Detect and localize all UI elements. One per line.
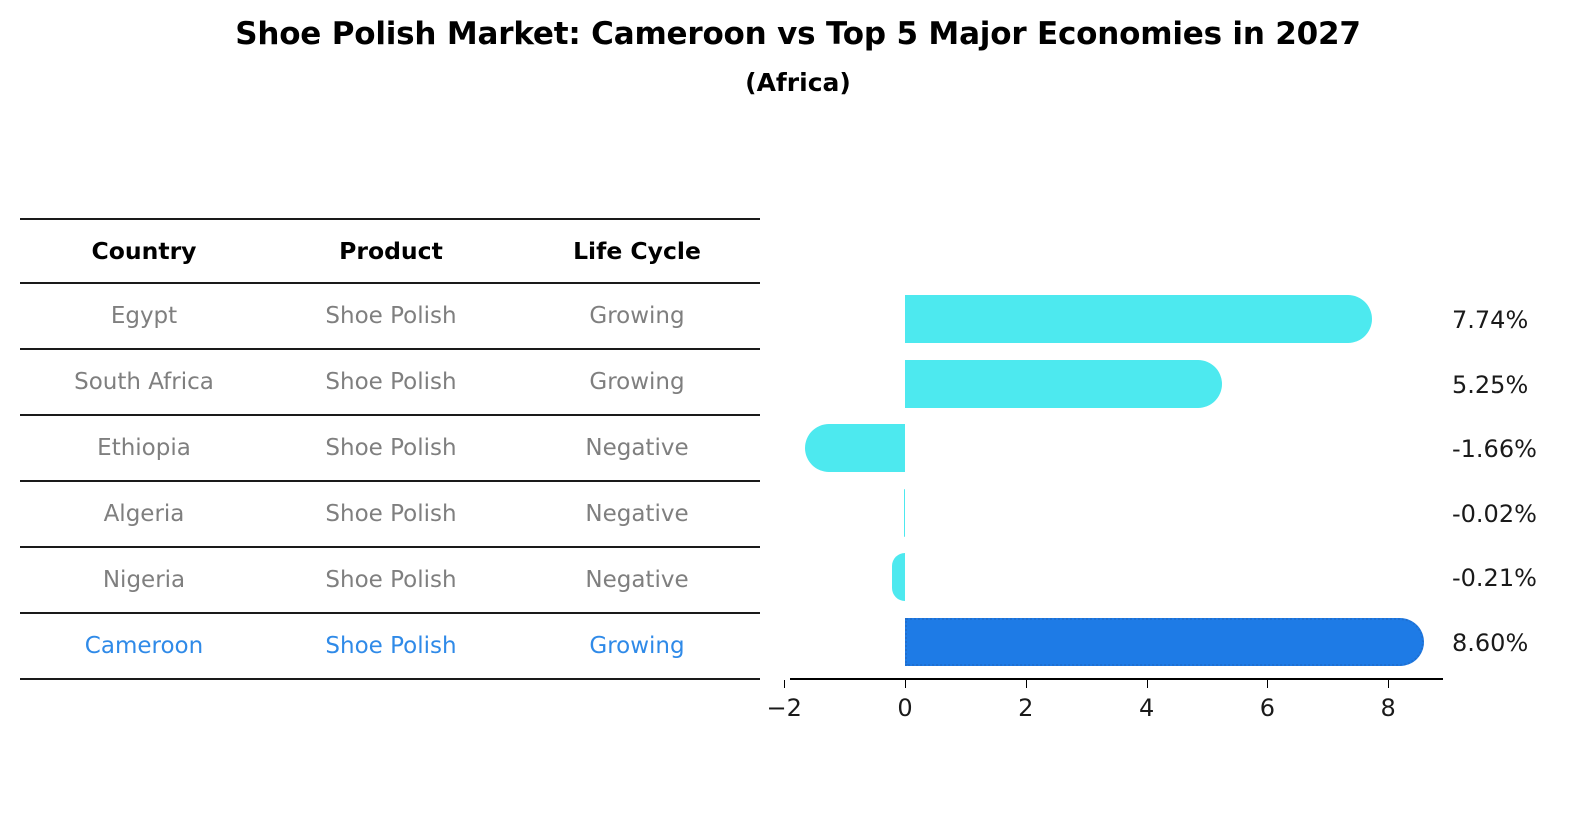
bar-value-label: 8.60% — [1452, 629, 1528, 657]
title-block: Shoe Polish Market: Cameroon vs Top 5 Ma… — [0, 12, 1596, 102]
column-header-product: Product — [268, 237, 514, 265]
cell-product: Shoe Polish — [268, 303, 514, 329]
x-axis-tick-mark — [1026, 680, 1027, 688]
cell-lifecycle: Growing — [514, 369, 760, 395]
cell-country: Cameroon — [20, 633, 268, 659]
bar[interactable] — [892, 553, 905, 601]
cell-product: Shoe Polish — [268, 435, 514, 461]
bar[interactable] — [805, 424, 905, 472]
x-axis-tick-label: 6 — [1237, 694, 1297, 722]
x-axis-tick-mark — [1267, 680, 1268, 688]
cell-product: Shoe Polish — [268, 567, 514, 593]
x-axis-tick-label: 2 — [996, 694, 1056, 722]
cell-lifecycle: Growing — [514, 303, 760, 329]
table-row[interactable]: Algeria Shoe Polish Negative — [20, 482, 760, 546]
bar-highlighted[interactable] — [905, 618, 1424, 666]
cell-product: Shoe Polish — [268, 369, 514, 395]
cell-country: Algeria — [20, 501, 268, 527]
x-axis-tick-mark — [1388, 680, 1389, 688]
cell-lifecycle: Negative — [514, 501, 760, 527]
x-axis-line — [790, 678, 1443, 680]
page-subtitle: (Africa) — [0, 64, 1596, 102]
cell-lifecycle: Growing — [514, 633, 760, 659]
bar-value-label: -0.02% — [1452, 500, 1537, 528]
cell-product: Shoe Polish — [268, 633, 514, 659]
cell-product: Shoe Polish — [268, 501, 514, 527]
x-axis-tick-label: −2 — [754, 694, 814, 722]
cell-country: Egypt — [20, 303, 268, 329]
table-header-row: Country Product Life Cycle — [20, 220, 760, 282]
table-row[interactable]: South Africa Shoe Polish Growing — [20, 350, 760, 414]
data-table: Country Product Life Cycle Egypt Shoe Po… — [20, 218, 760, 680]
cell-lifecycle: Negative — [514, 435, 760, 461]
bar[interactable] — [904, 489, 906, 537]
x-axis-tick-label: 0 — [875, 694, 935, 722]
x-axis-tick-mark — [1147, 680, 1148, 688]
x-axis-tick-label: 8 — [1358, 694, 1418, 722]
bar-value-label: -0.21% — [1452, 564, 1537, 592]
bar[interactable] — [905, 360, 1222, 408]
x-axis-tick-mark — [784, 680, 785, 688]
column-header-country: Country — [20, 237, 268, 265]
column-header-lifecycle: Life Cycle — [514, 237, 760, 265]
table-row-highlighted[interactable]: Cameroon Shoe Polish Growing — [20, 614, 760, 678]
page-title: Shoe Polish Market: Cameroon vs Top 5 Ma… — [0, 12, 1596, 56]
cell-country: Ethiopia — [20, 435, 268, 461]
cell-lifecycle: Negative — [514, 567, 760, 593]
cell-country: South Africa — [20, 369, 268, 395]
x-axis-tick-label: 4 — [1117, 694, 1177, 722]
table-rule-bottom — [20, 678, 760, 680]
cell-country: Nigeria — [20, 567, 268, 593]
bar-value-label: 7.74% — [1452, 306, 1528, 334]
table-row[interactable]: Nigeria Shoe Polish Negative — [20, 548, 760, 612]
bar-value-label: -1.66% — [1452, 435, 1537, 463]
x-axis-tick-mark — [905, 680, 906, 688]
table-row[interactable]: Ethiopia Shoe Polish Negative — [20, 416, 760, 480]
bar[interactable] — [905, 295, 1372, 343]
table-row[interactable]: Egypt Shoe Polish Growing — [20, 284, 760, 348]
bar-value-label: 5.25% — [1452, 371, 1528, 399]
